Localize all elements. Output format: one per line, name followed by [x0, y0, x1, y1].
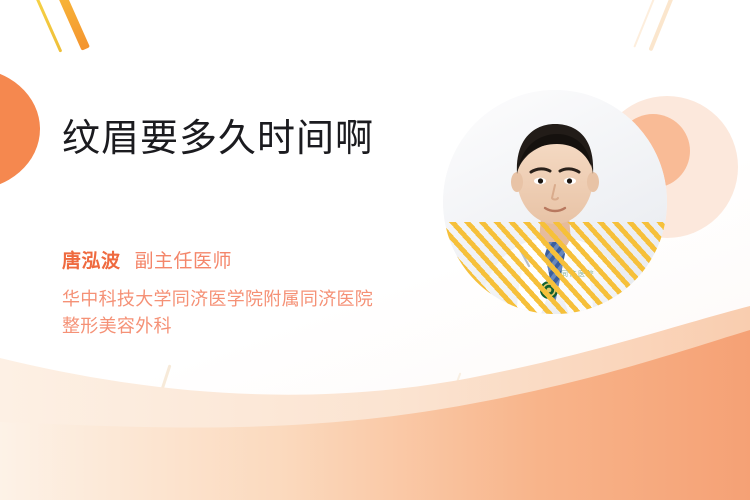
- page-title: 纹眉要多久时间啊: [62, 115, 374, 163]
- doctor-affiliation: 华中科技大学同济医学院附属同济医院 整形美容外科: [62, 286, 373, 340]
- doctor-portrait: 同济医院: [443, 90, 667, 314]
- doctor-portrait-illustration: 同济医院: [443, 90, 667, 314]
- doctor-rank: 副主任医师: [135, 251, 233, 272]
- affiliation-line-2: 整形美容外科: [62, 313, 373, 340]
- affiliation-line-1: 华中科技大学同济医学院附属同济医院: [62, 286, 373, 313]
- top-left-thick-stripe-icon: [48, 0, 90, 51]
- doctor-identity-line: 唐泓波副主任医师: [62, 246, 232, 273]
- doctor-name: 唐泓波: [62, 251, 121, 272]
- top-right-stripe-b-icon: [633, 0, 660, 48]
- left-orange-circle-decoration: [0, 68, 40, 190]
- svg-text:同济医院: 同济医院: [561, 269, 595, 278]
- top-left-thin-stripe-icon: [31, 0, 62, 53]
- doctor-info-card: 同济医院 纹眉要多久时间啊 唐泓波副主任医师 华中科技大学同济医学院附属同济医院…: [0, 0, 750, 500]
- top-right-stripe-a-icon: [648, 0, 679, 51]
